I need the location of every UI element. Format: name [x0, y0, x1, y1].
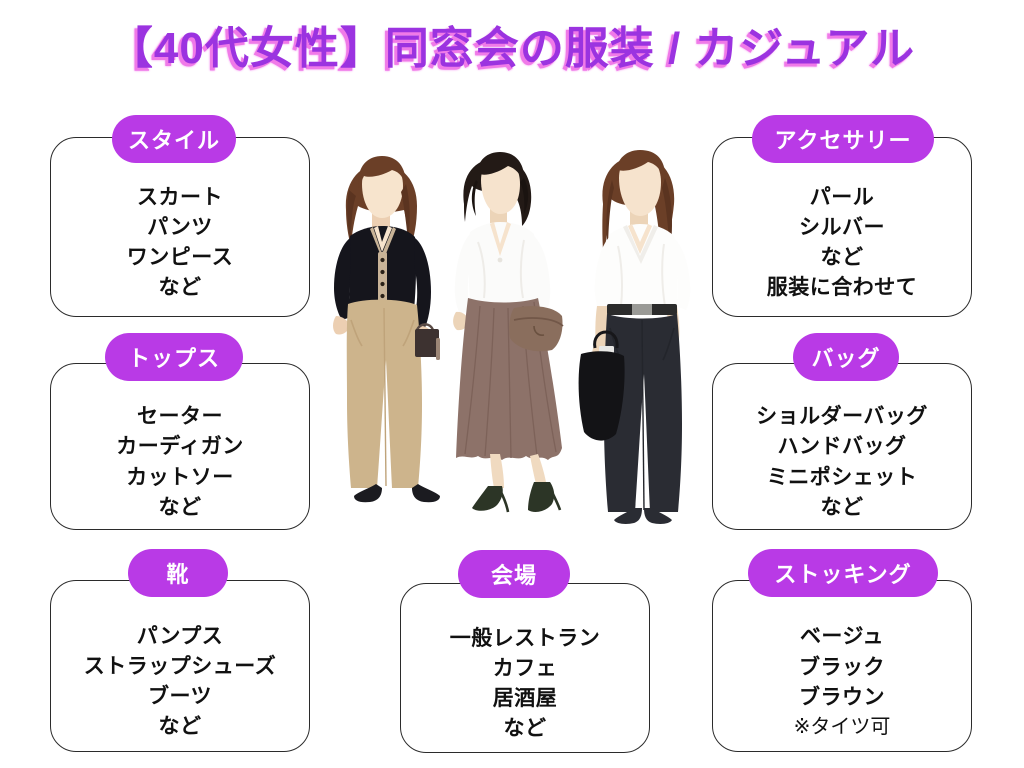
card-shoes-item: など: [159, 713, 202, 741]
card-accessory-item: シルバー: [799, 214, 885, 242]
card-stockings-body: ベージュ ブラック ブラウン ※タイツ可: [713, 619, 971, 745]
card-bag: ショルダーバッグ ハンドバッグ ミニポシェット など: [712, 363, 972, 530]
pill-accessory: アクセサリー: [752, 115, 934, 163]
card-tops-item: カットソー: [126, 464, 234, 492]
card-tops: セーター カーディガン カットソー など: [50, 363, 310, 530]
card-tops-item: など: [159, 494, 202, 522]
card-stockings-item: ベージュ: [800, 623, 884, 651]
card-venue: 一般レストラン カフェ 居酒屋 など: [400, 583, 650, 753]
card-style: スカート パンツ ワンピース など: [50, 137, 310, 317]
card-stockings-note: ※タイツ可: [794, 714, 891, 741]
bag-left-handbag: [415, 324, 440, 360]
card-shoes-item: ストラップシューズ: [84, 653, 276, 681]
card-style-item: など: [159, 274, 202, 302]
card-stockings-item: ブラウン: [799, 684, 885, 712]
illustration-three-women: [318, 148, 718, 536]
card-style-body: スカート パンツ ワンピース など: [51, 176, 309, 310]
card-accessory-item: など: [821, 244, 864, 272]
pill-accessory-label: アクセサリー: [775, 123, 912, 155]
card-bag-item: ハンドバッグ: [778, 433, 907, 461]
card-venue-body: 一般レストラン カフェ 居酒屋 など: [401, 622, 649, 746]
card-accessory-item: パール: [810, 184, 875, 212]
pill-stockings: ストッキング: [748, 549, 938, 597]
pill-venue-label: 会場: [491, 558, 537, 590]
pill-tops-label: トップス: [128, 341, 220, 373]
figure-woman-center: [453, 152, 563, 512]
pill-bag: バッグ: [793, 333, 899, 381]
card-accessory-body: パール シルバー など 服装に合わせて: [713, 176, 971, 310]
card-tops-item: カーディガン: [116, 433, 244, 461]
card-venue-item: カフェ: [493, 655, 558, 683]
pill-shoes-label: 靴: [166, 557, 189, 589]
card-bag-body: ショルダーバッグ ハンドバッグ ミニポシェット など: [713, 402, 971, 523]
card-bag-item: ミニポシェット: [767, 464, 918, 492]
pill-shoes: 靴: [128, 549, 228, 597]
card-venue-item: 一般レストラン: [450, 625, 601, 653]
page-title: 【40代女性】同窓会の服装 / カジュアル: [0, 12, 1024, 76]
card-bag-item: ショルダーバッグ: [756, 403, 928, 431]
card-stockings-item: ブラック: [799, 654, 885, 682]
card-bag-item: など: [821, 494, 864, 522]
card-accessory: パール シルバー など 服装に合わせて: [712, 137, 972, 317]
card-tops-body: セーター カーディガン カットソー など: [51, 402, 309, 523]
pill-style-label: スタイル: [128, 123, 220, 155]
card-venue-item: など: [504, 715, 547, 743]
card-accessory-item: 服装に合わせて: [767, 274, 918, 302]
pill-tops: トップス: [105, 333, 243, 381]
card-style-item: パンツ: [147, 214, 213, 242]
card-shoes-item: ブーツ: [148, 683, 212, 711]
pill-stockings-label: ストッキング: [774, 557, 911, 589]
card-shoes-item: パンプス: [137, 623, 223, 651]
card-stockings: ベージュ ブラック ブラウン ※タイツ可: [712, 580, 972, 752]
pill-venue: 会場: [458, 550, 570, 598]
figure-woman-right: [579, 150, 691, 524]
card-style-item: ワンピース: [127, 244, 233, 272]
card-tops-item: セーター: [137, 403, 223, 431]
pill-style: スタイル: [112, 115, 236, 163]
card-style-item: スカート: [137, 184, 223, 212]
card-shoes: パンプス ストラップシューズ ブーツ など: [50, 580, 310, 752]
pill-bag-label: バッグ: [812, 341, 881, 373]
card-venue-item: 居酒屋: [493, 685, 558, 713]
figure-woman-left: [333, 156, 440, 502]
bag-center-clutch: [509, 306, 563, 351]
card-shoes-body: パンプス ストラップシューズ ブーツ など: [51, 619, 309, 745]
